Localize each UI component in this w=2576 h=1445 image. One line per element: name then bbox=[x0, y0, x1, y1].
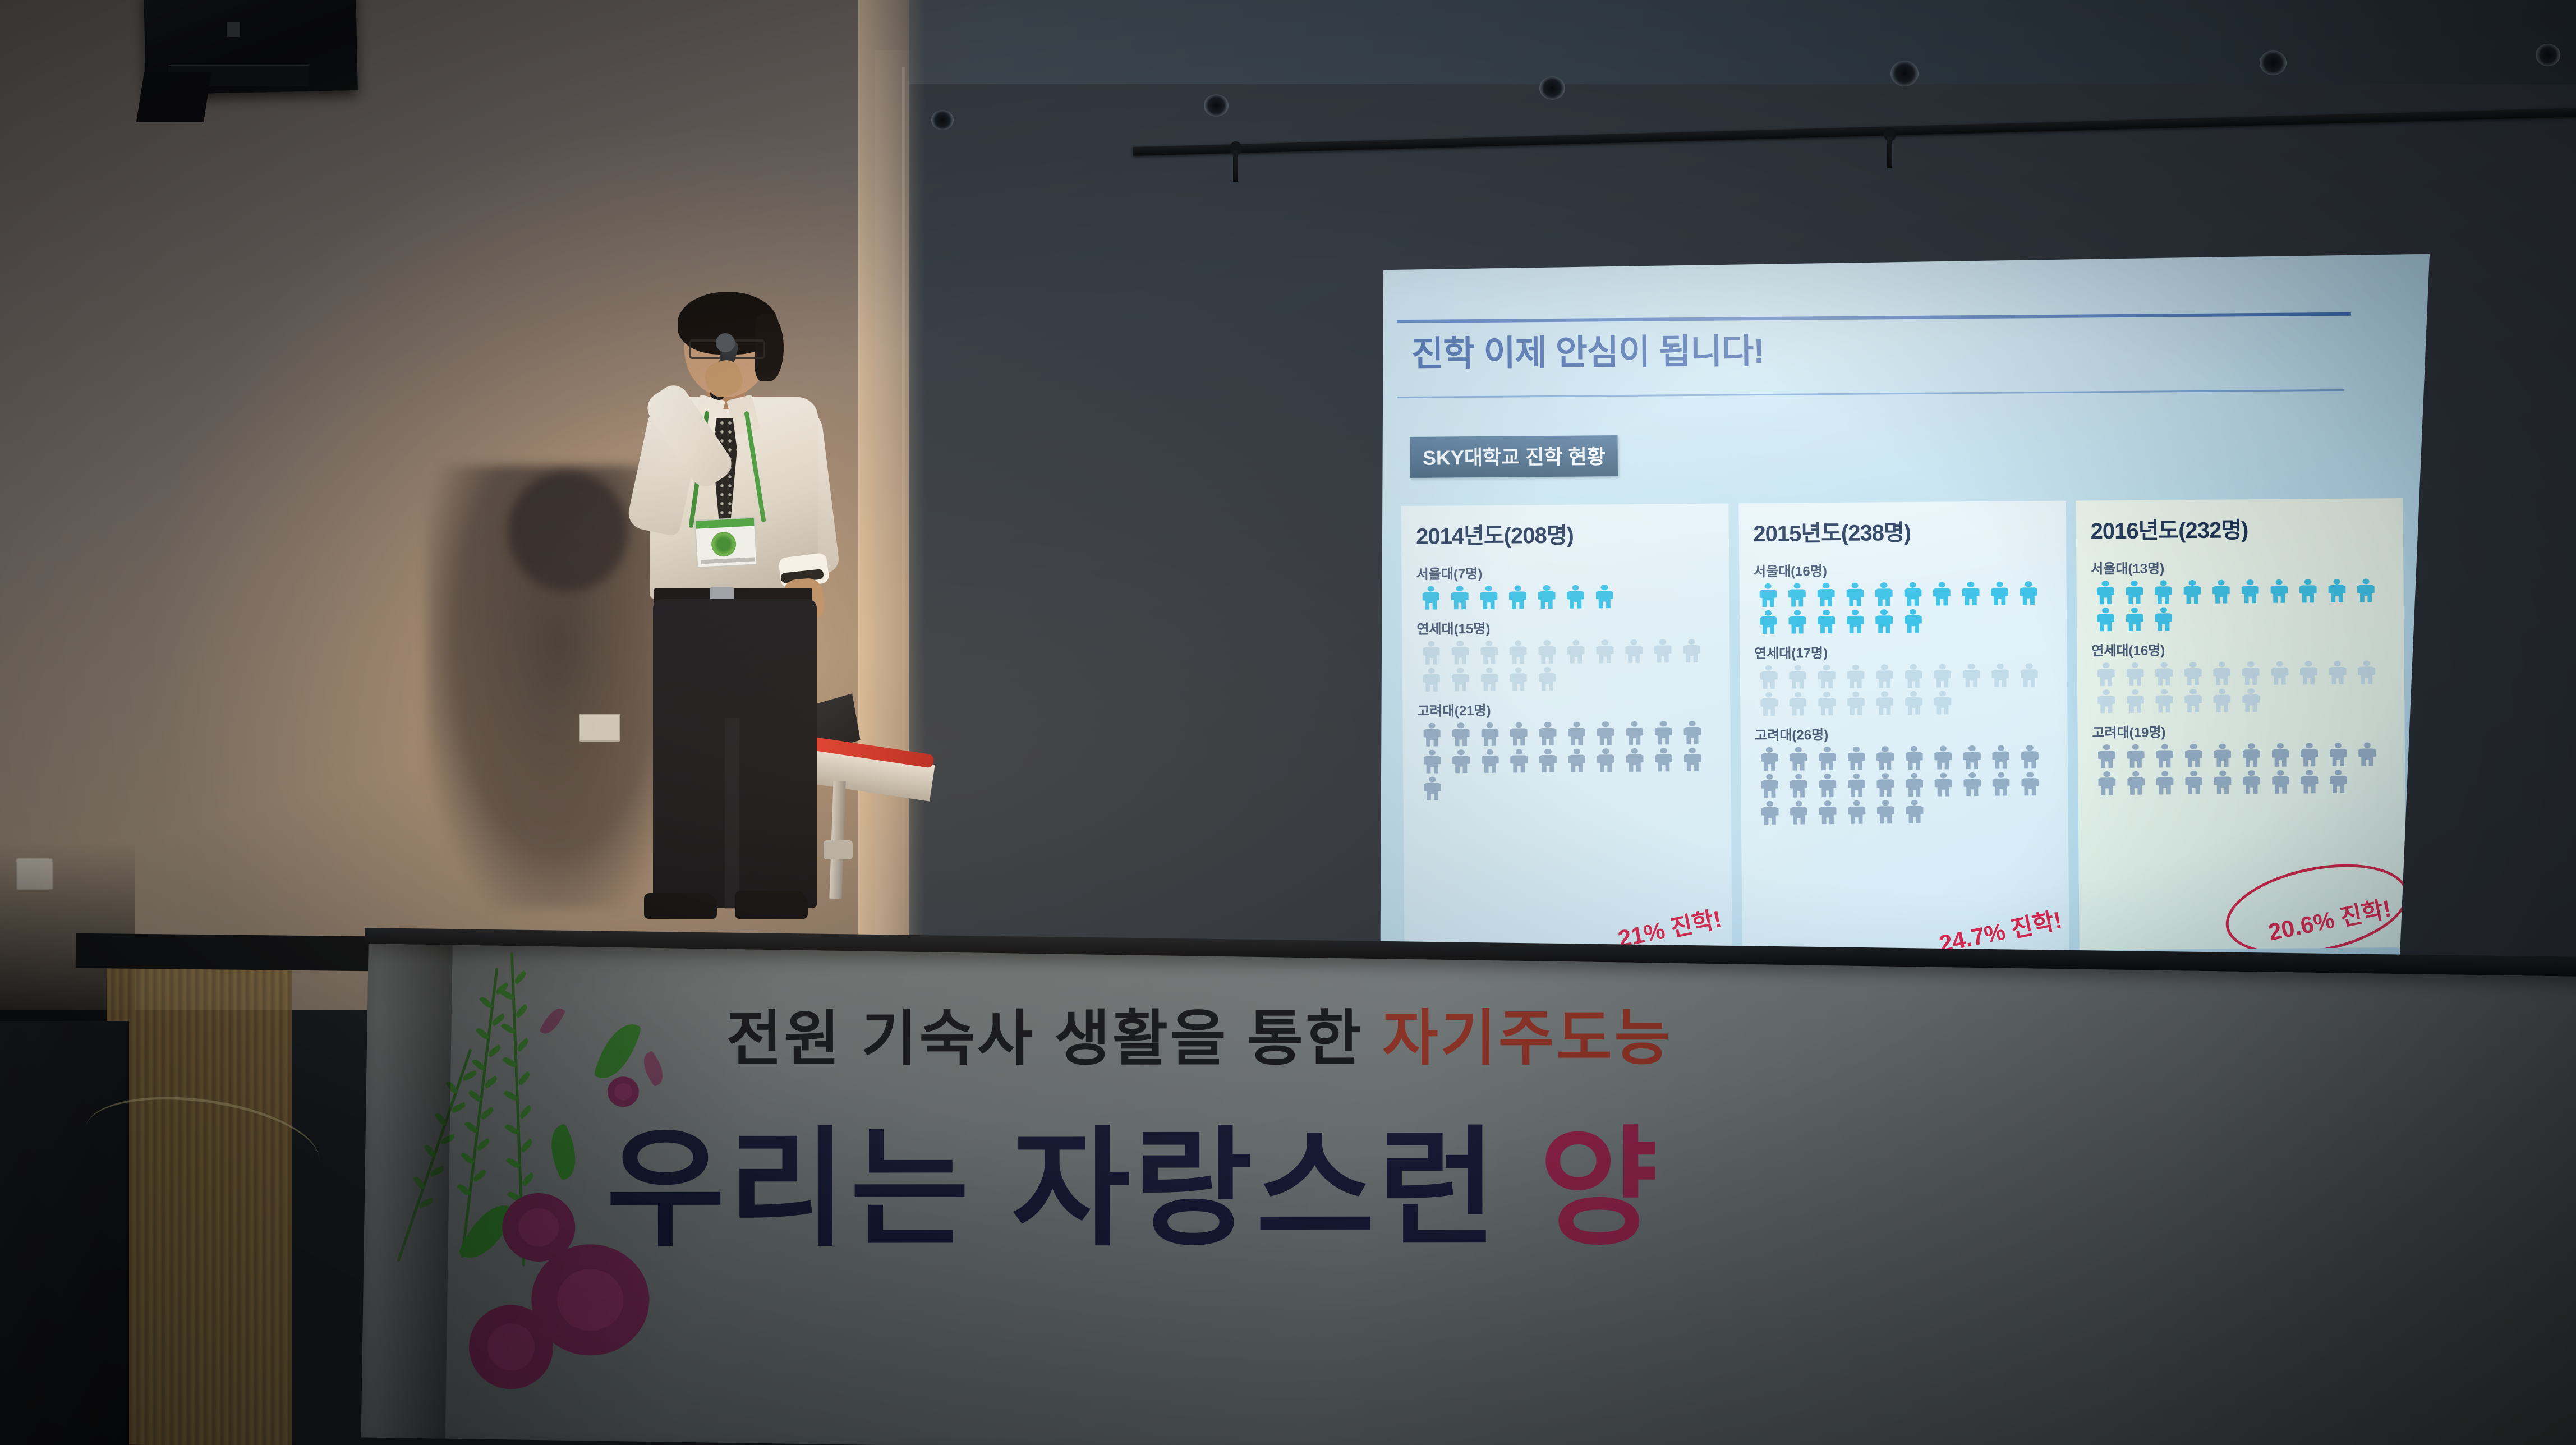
person-icon bbox=[2178, 661, 2207, 687]
stage-wood-panel bbox=[107, 962, 292, 1445]
person-icon bbox=[1417, 640, 1446, 666]
person-icon bbox=[2091, 662, 2120, 688]
school-group: 고려대(21명) bbox=[1417, 698, 1719, 803]
person-icon bbox=[2208, 743, 2237, 768]
school-group: 서울대(16명) bbox=[1754, 558, 2055, 637]
person-icon bbox=[1928, 663, 1957, 689]
person-icon bbox=[1899, 691, 1928, 716]
person-icon bbox=[1417, 667, 1446, 693]
person-icon bbox=[1842, 746, 1871, 772]
person-icon bbox=[2150, 688, 2179, 714]
year-column: 2016년도(232명) 서울대(13명) 연세대(16명) 고려대(19명) bbox=[2076, 498, 2407, 950]
year-column: 2015년도(238명) 서울대(16명) 연세대(17명) 고려대(26명) bbox=[1738, 501, 2069, 953]
person-icon bbox=[1418, 749, 1447, 775]
person-icon bbox=[1503, 585, 1533, 610]
person-icon bbox=[1871, 745, 1900, 771]
person-icon bbox=[1755, 774, 1784, 799]
person-icon bbox=[2295, 769, 2324, 795]
school-group: 연세대(16명) bbox=[2091, 637, 2393, 716]
school-label: 고려대(19명) bbox=[2092, 719, 2394, 741]
person-icon bbox=[1928, 690, 1957, 716]
person-icon bbox=[2265, 579, 2294, 605]
person-icon bbox=[2294, 660, 2324, 686]
person-icon bbox=[2091, 607, 2120, 633]
person-icon bbox=[1533, 721, 1562, 747]
person-icon bbox=[1900, 772, 1929, 798]
banner-shading bbox=[361, 944, 2576, 1445]
person-icon bbox=[1533, 666, 1562, 692]
presenter bbox=[611, 292, 847, 954]
person-icon bbox=[1813, 800, 1842, 826]
person-icon bbox=[2178, 579, 2207, 605]
school-label: 서울대(16명) bbox=[1754, 558, 2055, 580]
person-icon bbox=[1900, 799, 1929, 825]
person-icon bbox=[2324, 769, 2353, 795]
person-icon bbox=[1986, 662, 2015, 688]
person-icon bbox=[2120, 580, 2149, 606]
person-icon bbox=[1533, 639, 1562, 665]
person-icon bbox=[2236, 661, 2265, 687]
person-icon bbox=[1755, 747, 1784, 772]
person-icon bbox=[1986, 744, 2016, 770]
person-icon bbox=[1755, 800, 1784, 826]
person-icon bbox=[1813, 746, 1842, 772]
person-icon bbox=[2352, 660, 2381, 685]
ceiling-downlight-icon bbox=[2260, 50, 2287, 75]
person-icon bbox=[1649, 747, 1678, 773]
person-icon bbox=[2293, 578, 2322, 604]
year-column: 2014년도(208명) 서울대(7명) 연세대(15명) 고려대(21명) bbox=[1401, 503, 1732, 955]
rail-dropper-icon bbox=[1233, 150, 1238, 182]
person-icon bbox=[1503, 639, 1533, 665]
school-group: 고려대(19명) bbox=[2092, 719, 2394, 798]
projection-screen: 진학 이제 안심이 됩니다! SKY대학교 진학 현황 2014년도(208명)… bbox=[1375, 254, 2435, 976]
pictogram-row bbox=[1754, 581, 2055, 637]
person-icon bbox=[1812, 609, 1841, 635]
rail-dropper-icon bbox=[1887, 137, 1892, 168]
ceiling-downlight-icon bbox=[2536, 44, 2560, 66]
person-icon bbox=[1504, 666, 1533, 692]
person-icon bbox=[2120, 689, 2150, 715]
school-label: 고려대(21명) bbox=[1417, 698, 1719, 720]
person-icon bbox=[2150, 743, 2179, 769]
person-icon bbox=[1755, 692, 1784, 717]
person-icon bbox=[1620, 721, 1649, 747]
person-icon bbox=[1505, 748, 1534, 774]
speaker-bracket-icon bbox=[136, 72, 211, 122]
person-icon bbox=[1591, 748, 1621, 774]
person-icon bbox=[1928, 581, 1957, 607]
person-icon bbox=[1677, 638, 1706, 664]
person-icon bbox=[2235, 579, 2265, 605]
person-icon bbox=[1648, 638, 1677, 664]
person-icon bbox=[1871, 799, 1900, 825]
person-icon bbox=[2149, 579, 2178, 605]
person-icon bbox=[2120, 607, 2149, 633]
wall-seam bbox=[902, 67, 905, 1021]
person-icon bbox=[1841, 582, 1870, 608]
ceiling-downlight-icon bbox=[1539, 76, 1565, 100]
person-icon bbox=[2207, 661, 2237, 687]
person-icon bbox=[1784, 800, 1814, 826]
person-icon bbox=[2014, 581, 2043, 606]
person-icon bbox=[1620, 748, 1649, 774]
badge-text-line bbox=[701, 557, 755, 564]
person-icon bbox=[1899, 745, 1929, 771]
person-icon bbox=[2295, 742, 2324, 768]
person-icon bbox=[2091, 580, 2120, 606]
school-label: 연세대(17명) bbox=[1754, 640, 2056, 662]
person-icon bbox=[2014, 662, 2044, 688]
person-icon bbox=[1957, 745, 1986, 771]
person-icon bbox=[2016, 771, 2045, 797]
person-icon bbox=[2150, 770, 2179, 796]
person-icon bbox=[1418, 776, 1447, 802]
school-group: 연세대(17명) bbox=[1754, 640, 2056, 719]
pictogram-row bbox=[1755, 744, 2057, 827]
person-icon bbox=[1985, 581, 2014, 606]
person-icon bbox=[2352, 578, 2381, 604]
ceiling-downlight-icon bbox=[1890, 61, 1919, 86]
person-icon bbox=[2207, 579, 2236, 605]
person-icon bbox=[1813, 691, 1842, 717]
badge-header-bar bbox=[696, 518, 755, 528]
year-columns: 2014년도(208명) 서울대(7명) 연세대(15명) 고려대(21명) bbox=[1401, 498, 2407, 955]
person-icon bbox=[1532, 585, 1561, 610]
person-icon bbox=[1561, 584, 1590, 610]
photo-scene: 진학 이제 안심이 됩니다! SKY대학교 진학 현황 2014년도(208명)… bbox=[0, 0, 2576, 1445]
person-icon bbox=[2149, 606, 2178, 632]
person-icon bbox=[1475, 749, 1505, 775]
person-icon bbox=[2353, 742, 2382, 767]
percent-annotation: 24.7% 진학! bbox=[1935, 901, 2064, 953]
person-icon bbox=[1956, 581, 1985, 607]
person-icon bbox=[1870, 664, 1899, 689]
person-icon bbox=[2092, 771, 2122, 797]
school-group: 연세대(15명) bbox=[1416, 616, 1718, 694]
person-icon bbox=[1678, 747, 1707, 773]
person-icon bbox=[1754, 665, 1783, 691]
person-icon bbox=[1475, 667, 1504, 693]
person-icon bbox=[1678, 720, 1707, 746]
ceiling-downlight-icon bbox=[1204, 94, 1229, 117]
person-icon bbox=[1813, 773, 1842, 799]
person-icon bbox=[1754, 610, 1783, 636]
person-icon bbox=[2121, 744, 2150, 770]
person-icon bbox=[2092, 744, 2122, 770]
person-icon bbox=[1898, 609, 1928, 634]
name-badge bbox=[694, 517, 757, 568]
person-icon bbox=[2324, 742, 2353, 768]
pictogram-row bbox=[1754, 662, 2056, 719]
person-icon bbox=[2323, 660, 2352, 686]
person-icon bbox=[1783, 609, 1812, 635]
school-label: 고려대(26명) bbox=[1755, 722, 2057, 744]
pictogram-row bbox=[1418, 720, 1720, 803]
person-icon bbox=[2150, 661, 2179, 687]
person-icon bbox=[2179, 743, 2208, 769]
microphone-head-icon bbox=[716, 333, 735, 352]
person-icon bbox=[1898, 582, 1928, 608]
person-icon bbox=[1783, 582, 1812, 608]
person-icon bbox=[1841, 691, 1870, 717]
person-icon bbox=[2237, 688, 2266, 714]
person-icon bbox=[1533, 748, 1562, 774]
pictogram-row bbox=[1416, 583, 1718, 613]
person-icon bbox=[1504, 721, 1533, 747]
year-title: 2016년도(232명) bbox=[2090, 510, 2392, 545]
person-icon bbox=[1986, 771, 2016, 797]
school-group: 고려대(26명) bbox=[1755, 722, 2057, 827]
person-icon bbox=[1562, 721, 1591, 747]
person-icon bbox=[1445, 585, 1474, 611]
person-icon bbox=[1812, 664, 1841, 690]
person-icon bbox=[1958, 772, 1987, 798]
person-icon bbox=[2265, 661, 2294, 687]
person-icon bbox=[1957, 663, 1986, 689]
ceiling-downlight-icon bbox=[931, 110, 954, 130]
school-label: 서울대(13명) bbox=[2091, 555, 2393, 577]
person-icon bbox=[2092, 689, 2121, 715]
person-icon bbox=[2122, 771, 2151, 797]
event-banner: 전원 기숙사 생활을 통한 자기주도능 우리는 자랑스런 양 bbox=[361, 944, 2576, 1445]
person-icon bbox=[1418, 722, 1447, 748]
person-icon bbox=[1446, 640, 1475, 666]
year-title: 2015년도(238명) bbox=[1753, 513, 2055, 548]
person-icon bbox=[2237, 743, 2266, 768]
school-label: 연세대(15명) bbox=[1416, 616, 1718, 638]
person-icon bbox=[1475, 722, 1505, 748]
stage-left-dark bbox=[0, 1021, 129, 1445]
presenter-shoe-right bbox=[735, 891, 808, 919]
person-icon bbox=[1783, 691, 1813, 717]
person-icon bbox=[2016, 744, 2045, 770]
person-icon bbox=[1590, 639, 1620, 665]
person-icon bbox=[1869, 582, 1898, 608]
wall-corner bbox=[875, 50, 914, 1015]
pictogram-row bbox=[1417, 638, 1719, 694]
person-icon bbox=[1590, 584, 1619, 610]
person-icon bbox=[1899, 664, 1928, 689]
school-group: 서울대(7명) bbox=[1416, 561, 1718, 613]
person-icon bbox=[1929, 772, 1958, 798]
slide-title: 진학 이제 안심이 됩니다! bbox=[1411, 320, 2150, 376]
person-icon bbox=[1870, 609, 1899, 634]
person-icon bbox=[1811, 582, 1841, 608]
title-rule-bottom bbox=[1397, 389, 2344, 398]
person-icon bbox=[1649, 720, 1678, 746]
person-icon bbox=[1446, 667, 1475, 693]
person-icon bbox=[1784, 746, 1813, 772]
person-icon bbox=[1447, 749, 1476, 775]
person-icon bbox=[2179, 770, 2209, 796]
person-icon bbox=[1841, 664, 1870, 690]
person-icon bbox=[2266, 770, 2295, 795]
person-icon bbox=[1591, 721, 1620, 747]
badge-logo-icon bbox=[711, 531, 737, 557]
presenter-shoe-left bbox=[644, 893, 717, 919]
person-icon bbox=[1784, 773, 1813, 799]
pictogram-row bbox=[2091, 578, 2393, 634]
presenter-shadow-head bbox=[508, 471, 628, 592]
person-icon bbox=[1474, 585, 1503, 611]
banner-fold bbox=[361, 944, 453, 1438]
trouser-seam bbox=[725, 718, 739, 909]
person-icon bbox=[2207, 688, 2237, 714]
person-icon bbox=[2322, 578, 2352, 604]
person-icon bbox=[2266, 743, 2295, 768]
speaker-led-icon bbox=[227, 22, 240, 37]
person-icon bbox=[1841, 609, 1870, 635]
school-label: 서울대(7명) bbox=[1416, 561, 1718, 583]
person-icon bbox=[1870, 691, 1899, 716]
person-icon bbox=[1446, 722, 1475, 748]
person-icon bbox=[1416, 585, 1446, 611]
person-icon bbox=[2179, 688, 2208, 714]
school-label: 연세대(16명) bbox=[2091, 637, 2393, 659]
person-icon bbox=[1842, 773, 1871, 799]
person-icon bbox=[1620, 639, 1649, 665]
slide-content: 진학 이제 안심이 됩니다! SKY대학교 진학 현황 2014년도(208명)… bbox=[1375, 254, 2435, 976]
person-icon bbox=[1842, 800, 1871, 826]
person-icon bbox=[1561, 639, 1590, 665]
person-icon bbox=[1929, 745, 1958, 771]
pictogram-row bbox=[2091, 660, 2393, 716]
pictogram-row bbox=[2092, 742, 2394, 798]
person-icon bbox=[1783, 664, 1813, 690]
person-icon bbox=[1562, 748, 1591, 774]
section-badge: SKY대학교 진학 현황 bbox=[1410, 435, 1618, 478]
year-title: 2014년도(208명) bbox=[1416, 516, 1718, 551]
person-icon bbox=[2237, 770, 2266, 795]
person-icon bbox=[2120, 662, 2150, 688]
person-icon bbox=[1871, 772, 1900, 798]
school-group: 서울대(13명) bbox=[2091, 555, 2393, 634]
person-icon bbox=[1754, 583, 1783, 609]
person-icon bbox=[1475, 640, 1504, 666]
person-icon bbox=[2208, 770, 2237, 795]
